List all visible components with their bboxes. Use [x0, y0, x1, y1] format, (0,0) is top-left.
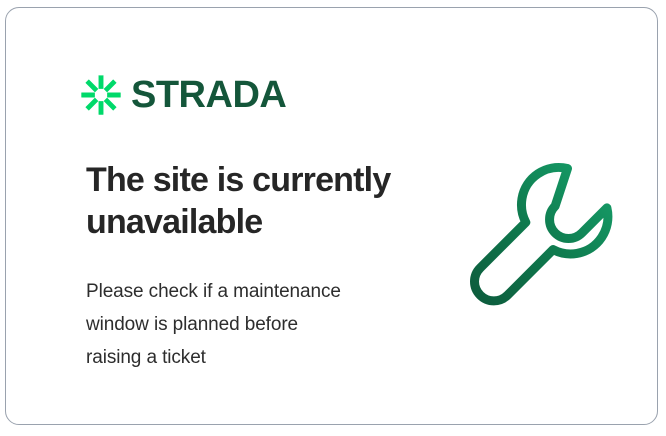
status-card: STRADA The site is currently unavailable… — [5, 7, 658, 425]
message-body-line: raising a ticket — [86, 341, 396, 374]
brand-wordmark: STRADA — [131, 76, 286, 114]
message-body-line: window is planned before — [86, 308, 396, 341]
message-body: Please check if a maintenance window is … — [86, 275, 396, 374]
page-title: The site is currently unavailable — [86, 159, 426, 243]
asterisk-star-icon — [80, 74, 122, 116]
brand-lockup: STRADA — [80, 74, 286, 116]
page-root: STRADA The site is currently unavailable… — [0, 0, 666, 436]
message-body-line: Please check if a maintenance — [86, 275, 396, 308]
